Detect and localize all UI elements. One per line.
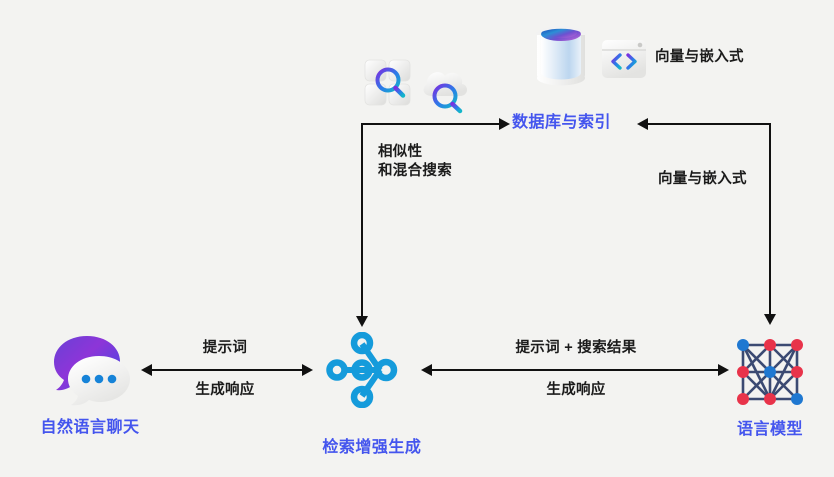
edge-label-rag-llm-bottom: 生成响应 <box>430 381 722 400</box>
edge-arrow-left-to-chat <box>141 364 152 376</box>
node-graph-icon <box>322 332 402 408</box>
edge-line-llm-db-horizontal <box>648 123 771 125</box>
chat-bubbles-icon <box>47 330 133 408</box>
edge-label-chat-rag-bottom: 生成响应 <box>155 381 295 400</box>
node-label-llm: 语言模型 <box>690 420 834 440</box>
edge-label-rag-llm-top: 提示词 + 搜索结果 <box>430 339 722 358</box>
edge-arrow-down-to-rag <box>356 316 368 327</box>
edge-line-rag-llm <box>432 369 720 371</box>
node-label-database: 数据库与索引 <box>512 113 632 133</box>
node-label-rag-line1: 检索增强生成 <box>322 439 421 456</box>
vector-embedding-caption: 向量与嵌入式 <box>655 45 744 66</box>
edge-arrow-down-to-llm <box>764 314 776 325</box>
edge-arrow-left-to-rag <box>421 364 432 376</box>
node-label-chat: 自然语言聊天 <box>0 418 180 438</box>
edge-label-chat-rag-top: 提示词 <box>155 339 295 358</box>
cloud-search-icon <box>418 62 476 114</box>
node-label-rag: 检索增强生成 （RAG）应用 <box>272 418 452 477</box>
edge-line-chat-rag <box>152 369 304 371</box>
edge-line-rag-db-vertical <box>361 123 363 321</box>
grid-search-icon <box>362 57 414 109</box>
edge-arrow-right-to-database <box>499 118 510 130</box>
edge-label-rag-db: 相似性 和混合搜索 <box>378 143 452 181</box>
diagram-canvas: 向量与嵌入式 数据库与索引 相似性 和混合搜索 向量与嵌入式 <box>0 0 834 477</box>
neural-network-icon <box>733 337 807 407</box>
edge-line-llm-db-vertical <box>769 123 771 319</box>
database-cylinder-icon <box>532 18 590 88</box>
edge-arrow-left-to-database <box>637 118 648 130</box>
edge-label-llm-db-text: 向量与嵌入式 <box>658 171 747 187</box>
edge-label-llm-db: 向量与嵌入式 <box>658 170 747 189</box>
edge-label-rag-db-line1: 相似性 和混合搜索 <box>378 144 452 179</box>
code-window-icon <box>600 37 648 81</box>
edge-line-rag-db-horizontal <box>361 123 501 125</box>
edge-arrow-right-to-llm <box>718 364 729 376</box>
edge-arrow-right-to-rag-from-chat <box>302 364 313 376</box>
